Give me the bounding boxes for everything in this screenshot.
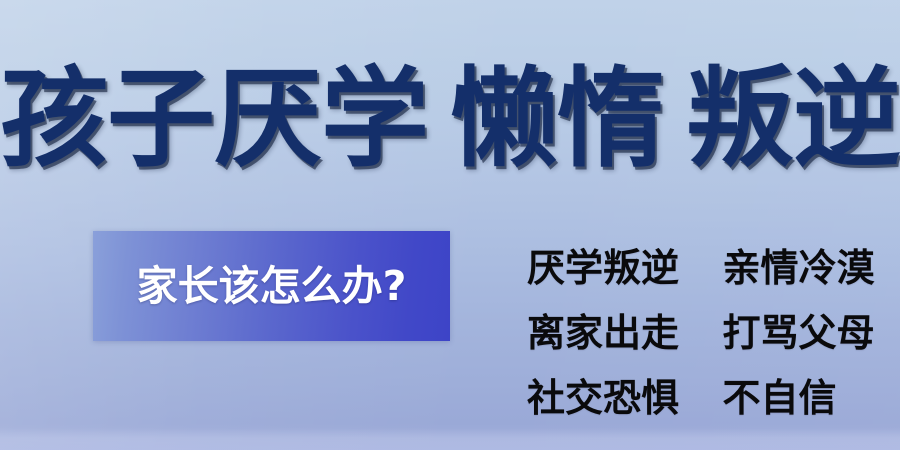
- headline-group-3: 叛逆: [686, 66, 900, 174]
- symptom-item-right: 打骂父母: [722, 311, 874, 355]
- symptom-item-right: 不自信: [722, 376, 836, 420]
- question-banner: 家长该怎么办?: [93, 231, 450, 341]
- headline-group-2: 懒惰: [450, 66, 664, 174]
- symptom-list: 厌学叛逆 亲情冷漠 离家出走 打骂父母 社交恐惧 不自信: [527, 236, 877, 431]
- symptom-row: 离家出走 打骂父母: [527, 301, 877, 366]
- symptom-row: 厌学叛逆 亲情冷漠: [527, 236, 877, 301]
- symptom-item-left: 离家出走: [527, 311, 679, 355]
- symptom-item-left: 社交恐惧: [527, 376, 679, 420]
- symptom-row: 社交恐惧 不自信: [527, 366, 877, 431]
- question-banner-label: 家长该怎么办?: [137, 266, 407, 307]
- symptom-item-right: 亲情冷漠: [722, 246, 874, 290]
- poster-canvas: 孩子厌学 懒惰 叛逆 家长该怎么办? 厌学叛逆 亲情冷漠 离家出走 打骂父母 社…: [0, 0, 900, 450]
- headline-group-1: 孩子厌学: [0, 66, 428, 174]
- symptom-item-left: 厌学叛逆: [527, 246, 679, 290]
- headline: 孩子厌学 懒惰 叛逆: [0, 54, 900, 186]
